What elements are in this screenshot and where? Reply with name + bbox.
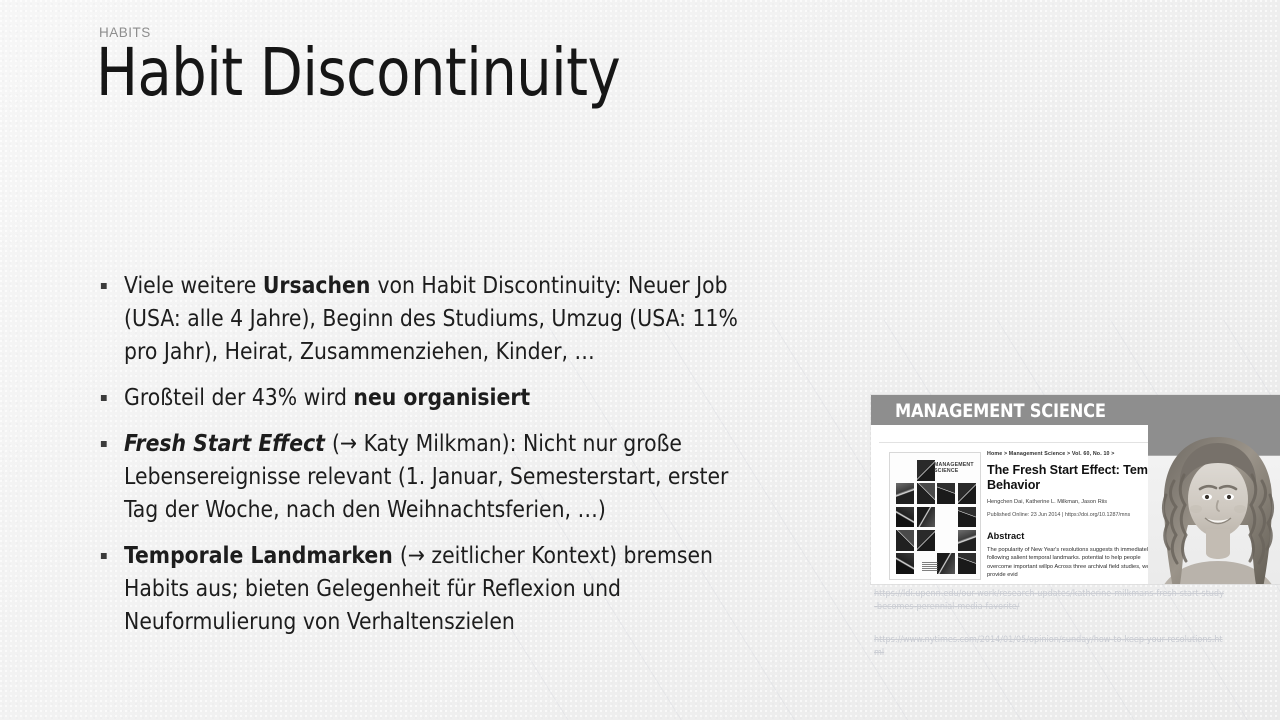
list-item: Temporale Landmarken (→ zeitlicher Konte… [98,539,746,638]
cover-tile [896,553,914,574]
text-run: Viele weitere [124,271,263,299]
list-item: Fresh Start Effect (→ Katy Milkman): Nic… [98,427,746,526]
cover-brand-line-2: SCIENCE [934,468,958,474]
cover-tile [958,530,976,551]
text-run: Großteil der 43% wird [124,383,353,411]
cover-brand-line-1: MANAGEMENT [934,462,974,468]
text-run: Fresh Start Effect [124,429,332,457]
cover-tile [937,483,955,504]
portrait-photo [1148,425,1280,584]
text-run: Ursachen [263,271,378,299]
cover-publisher-mark [922,561,938,571]
cover-tile [958,507,976,528]
source-url-1[interactable]: https://ldi.upenn.edu/our-work/research-… [874,588,1226,613]
cover-tile [937,553,955,574]
cover-tile [917,507,935,528]
slide: HABITS Habit Discontinuity Viele weitere… [0,0,1280,720]
cover-brand-text: MANAGEMENT SCIENCE [934,462,974,475]
cover-tile [896,507,914,528]
journal-cover-thumbnail: MANAGEMENT SCIENCE [889,452,981,580]
journal-site-header: MANAGEMENT SCIENCE [871,395,1280,425]
list-item: Viele weitere Ursachen von Habit Discont… [98,269,746,368]
source-url-2[interactable]: https://www.nytimes.com/2014/01/05/opini… [874,634,1226,659]
abstract-text: The popularity of New Year's resolutions… [987,546,1165,579]
cover-tile [917,460,935,481]
cover-tile [896,483,914,504]
journal-page-body: MANAGEMENT SCIENCE Home > Management Sci… [879,425,1280,584]
journal-site-title: MANAGEMENT SCIENCE [895,400,1106,422]
journal-screenshot-image: MANAGEMENT SCIENCE [871,395,1280,584]
text-run: neu organisiert [353,383,530,411]
cover-tile [896,460,914,481]
cover-tile [896,530,914,551]
page-title: Habit Discontinuity [96,38,620,107]
bullet-list: Viele weitere Ursachen von Habit Discont… [98,269,770,638]
cover-tile [958,553,976,574]
cover-art-grid [896,460,976,574]
portrait-illustration [1148,425,1280,584]
cover-tile [958,483,976,504]
cover-tile [917,530,935,551]
cover-tile [937,507,955,528]
cover-tile [917,483,935,504]
text-run: Temporale Landmarken [124,541,400,569]
cover-tile [937,530,955,551]
list-item: Großteil der 43% wird neu organisiert [98,381,746,414]
